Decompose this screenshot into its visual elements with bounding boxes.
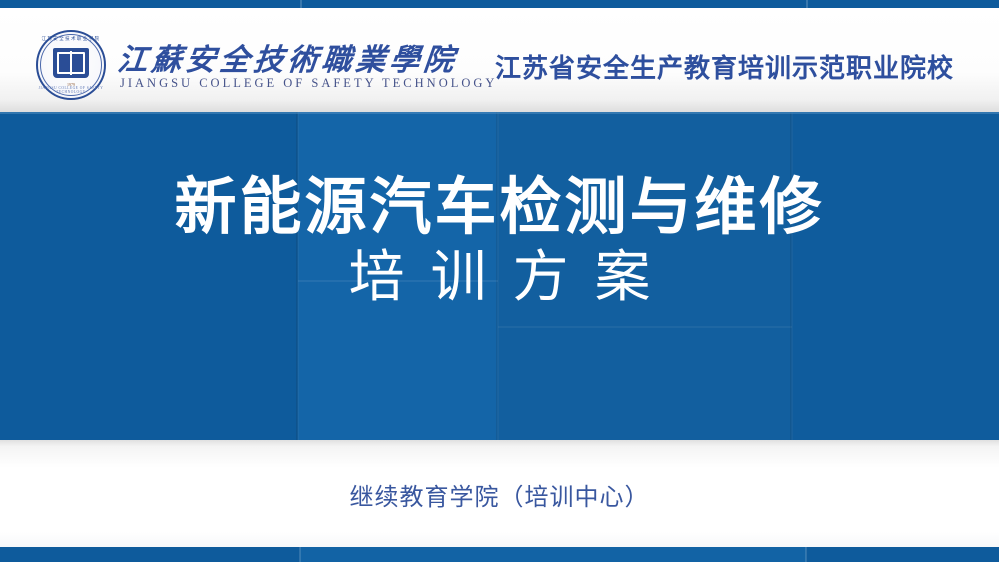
seal-cn-arc-text: 江苏安全技术职业学院 [36, 36, 106, 42]
panel-horizontal-seam-2 [498, 326, 792, 328]
college-name-en: JIANGSU COLLEGE OF SAFETY TECHNOLOGY [120, 76, 497, 91]
footer-organization: 继续教育学院（培训中心） [0, 477, 999, 512]
bottom-accent-bar [0, 547, 999, 562]
bottom-bar-seam-1 [299, 547, 301, 562]
slide-title-line-1: 新能源汽车检测与维修 [0, 174, 999, 241]
header-slogan: 江苏省安全生产教育培训示范职业院校 [495, 48, 954, 85]
top-bar-seam-2 [806, 0, 808, 8]
panel-top-highlight-line [0, 112, 999, 114]
presentation-slide: 江苏安全技术职业学院 1979 JIANGSU COLLEGE OF SAFET… [0, 0, 999, 562]
bottom-bar-seam-2 [805, 547, 807, 562]
college-seal-logo: 江苏安全技术职业学院 1979 JIANGSU COLLEGE OF SAFET… [36, 30, 106, 100]
seal-en-arc-text: JIANGSU COLLEGE OF SAFETY TECHNOLOGY [36, 86, 106, 94]
college-name-cn: 江蘇安全技術職業學院 [116, 35, 461, 79]
bottom-bar-segment-3 [806, 547, 999, 562]
slide-title-group: 新能源汽车检测与维修 培训方案 [0, 174, 999, 309]
seal-book-shield-icon [53, 48, 89, 78]
bottom-bar-segment-2 [300, 547, 806, 562]
bottom-bar-segment-1 [0, 547, 300, 562]
top-bar-seam-1 [300, 0, 302, 8]
top-accent-bar [0, 0, 999, 8]
slide-title-line-2: 培训方案 [0, 247, 999, 309]
header-band: 江苏安全技术职业学院 1979 JIANGSU COLLEGE OF SAFET… [0, 8, 999, 112]
